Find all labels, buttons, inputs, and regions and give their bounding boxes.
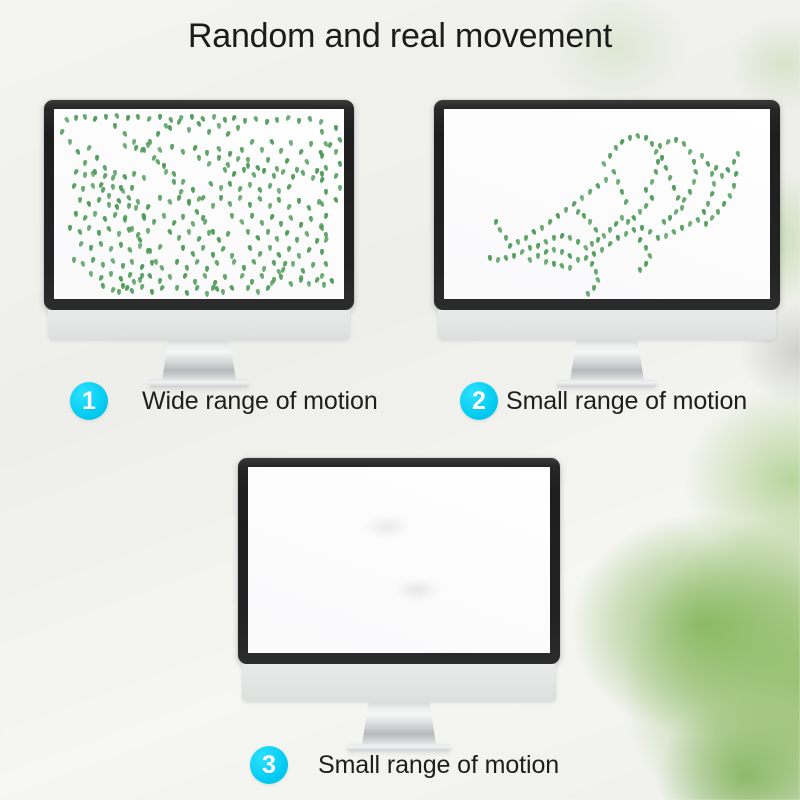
cursor-trail-dot: [151, 219, 156, 226]
cursor-trail-dot: [196, 120, 202, 127]
cursor-trail-dot: [98, 241, 104, 248]
cursor-trail-dot: [692, 179, 697, 186]
cursor-trail-dot: [564, 207, 568, 213]
cursor-trail-dot: [205, 291, 209, 297]
cursor-trail-dot: [248, 182, 252, 188]
cursor-trail-dot: [687, 189, 692, 196]
cursor-trail-dot: [590, 241, 595, 247]
cursor-trail-dot: [159, 284, 165, 291]
cursor-trail-dot: [324, 165, 329, 172]
cursor-trail-dot: [113, 123, 117, 129]
cursor-trail-dot: [309, 141, 313, 147]
cursor-trail-dot: [93, 211, 98, 217]
monitor-1-chin: [48, 310, 350, 340]
monitor-1: [44, 100, 354, 387]
cursor-trail-dot: [284, 157, 290, 164]
cursor-trail-dot: [122, 217, 126, 223]
cursor-trail-dot: [163, 169, 168, 176]
cursor-trail-dot: [126, 227, 131, 234]
cursor-trail-dot: [288, 214, 294, 221]
cursor-trail-dot: [681, 141, 687, 148]
cursor-trail-dot: [631, 226, 637, 233]
cursor-trail-dot: [589, 261, 594, 268]
cursor-trail-dot: [230, 213, 235, 219]
cursor-trail-dot: [594, 269, 599, 275]
cursor-trail-dot: [575, 208, 581, 215]
cursor-trail-dot: [90, 182, 96, 189]
cursor-trail-dot: [157, 243, 163, 250]
cursor-trail-dot: [295, 167, 299, 173]
cursor-trail-dot: [512, 253, 516, 259]
cursor-trail-dot: [89, 245, 94, 251]
cursor-trail-dot: [275, 166, 280, 173]
cursor-trail-dot: [732, 183, 736, 189]
cursor-trail-dot: [74, 148, 80, 155]
cursor-trail-dot: [279, 148, 284, 155]
cursor-trail-dot: [107, 193, 111, 199]
monitor-3-bezel: [238, 458, 560, 664]
cursor-trail-dot: [181, 179, 186, 186]
cursor-trail-dot: [567, 235, 572, 242]
cursor-trail-dot: [83, 172, 88, 178]
cursor-trail-dot: [527, 256, 533, 263]
caption-label-1: Wide range of motion: [142, 387, 378, 416]
cursor-trail-dot: [320, 153, 325, 159]
cursor-trail-dot: [643, 135, 648, 142]
cursor-trail-dot: [320, 249, 324, 255]
cursor-trail-dot: [68, 225, 72, 231]
cursor-trail-dot: [638, 209, 642, 215]
cursor-trail-dot: [592, 285, 597, 291]
cursor-trail-dot: [190, 114, 195, 120]
cursor-trail-dot: [86, 144, 92, 151]
cursor-trail-dot: [519, 248, 525, 255]
cursor-trail-dot: [71, 182, 77, 189]
cursor-trail-dot: [286, 183, 292, 190]
cursor-trail-dot: [307, 116, 313, 123]
cursor-trail-dot: [150, 260, 154, 266]
cursor-trail-dot: [78, 240, 84, 247]
cursor-trail-dot: [493, 219, 498, 226]
cursor-trail-dot: [275, 236, 280, 243]
monitor-1-bezel: [44, 100, 354, 310]
cursor-trail-dot: [334, 149, 339, 155]
cursor-trail-dot: [216, 155, 221, 161]
cursor-trail-dot: [593, 226, 599, 233]
cursor-trail-dot: [190, 220, 196, 227]
cursor-trail-dot: [308, 216, 313, 223]
cursor-trail-dot: [216, 237, 222, 244]
cursor-trail-dot: [136, 114, 141, 121]
cursor-trail-dot: [613, 220, 619, 227]
cursor-trail-dot: [87, 225, 93, 232]
cursor-trail-dot: [171, 170, 177, 177]
screen-glare: [248, 467, 550, 653]
cursor-trail-dot: [277, 188, 282, 195]
cursor-trail-dot: [259, 273, 265, 280]
cursor-trail-dot: [167, 198, 173, 205]
cursor-trail-dot: [497, 226, 503, 233]
cursor-trail-dot: [616, 235, 621, 241]
cursor-trail-dot: [260, 147, 264, 153]
cursor-trail-dot: [104, 114, 108, 120]
cursor-trail-dot: [601, 232, 607, 239]
cursor-trail-dot: [257, 186, 263, 193]
cursor-trail-dot: [206, 129, 211, 136]
cursor-trail-dot: [251, 171, 257, 178]
cursor-trail-dot: [619, 189, 624, 196]
cursor-trail-dot: [205, 150, 209, 156]
cursor-trail-dot: [159, 264, 165, 271]
cursor-trail-dot: [608, 227, 612, 233]
cursor-trail-dot: [242, 265, 247, 271]
cursor-trail-dot: [608, 153, 613, 159]
caption-row-2: 2 Small range of motion: [460, 382, 747, 420]
cursor-trail-dot: [576, 239, 581, 245]
cursor-trail-dot: [704, 221, 709, 227]
monitor-1-screen: [54, 109, 344, 299]
cursor-trail-dot: [692, 159, 696, 165]
cursor-trail-dot: [285, 114, 291, 121]
cursor-trail-dot: [129, 287, 135, 294]
cursor-trail-dot: [706, 201, 710, 207]
cursor-trail-dot: [536, 253, 540, 259]
monitor-3-screen: [248, 467, 550, 653]
cursor-trail-dot: [222, 117, 227, 124]
cursor-trail-dot: [242, 167, 246, 173]
cursor-trail-dot: [628, 135, 632, 141]
cursor-trail-dot: [653, 148, 659, 155]
caption-row-3: 3 Small range of motion: [250, 746, 559, 784]
cursor-trail-dot: [323, 260, 329, 267]
cursor-trail-dot: [247, 245, 253, 252]
cursor-trail-dot: [130, 259, 135, 266]
monitor-2-chin: [438, 310, 776, 340]
cursor-trail-dot: [171, 179, 176, 186]
cursor-trail-dot: [187, 229, 192, 236]
cursor-trail-dot: [231, 170, 237, 177]
cursor-trail-dot: [320, 176, 326, 183]
monitor-2-screen: [444, 109, 770, 299]
cursor-trail-dot: [681, 196, 687, 203]
cursor-trail-dot: [713, 165, 719, 172]
cursor-trail-dot: [236, 125, 240, 131]
cursor-trail-dot: [265, 157, 270, 164]
cursor-trail-dot: [190, 250, 196, 257]
cursor-trail-dot: [314, 168, 319, 175]
cursor-trail-dot: [125, 115, 130, 122]
cursor-trail-dot: [202, 272, 208, 279]
cursor-trail-dot: [735, 151, 740, 158]
cursor-trail-dot: [304, 230, 310, 237]
cursor-trail-dot: [637, 267, 642, 274]
cursor-trail-dot: [240, 147, 245, 154]
cursor-trail-dot: [102, 164, 108, 171]
cursor-trail-dot: [300, 169, 306, 176]
cursor-trail-dot: [329, 278, 335, 285]
cursor-trail-dot: [219, 245, 225, 252]
cursor-trail-dot: [559, 249, 564, 256]
cursor-trail-dot: [68, 139, 72, 145]
cursor-trail-dot: [527, 245, 532, 252]
cursor-trail-dot: [580, 195, 585, 202]
cursor-trail-dot: [102, 172, 108, 179]
cursor-trail-dot: [524, 235, 529, 242]
cursor-trail-dot: [631, 214, 637, 221]
cursor-trail-dot: [709, 190, 715, 197]
cursor-trail-dot: [261, 266, 266, 272]
cursor-trail-dot: [306, 281, 311, 288]
cursor-trail-dot: [110, 184, 115, 190]
cursor-trail-dot: [314, 238, 319, 245]
cursor-trail-dot: [280, 168, 286, 175]
cursor-trail-dot: [237, 185, 243, 192]
caption-row-1: 1 Wide range of motion: [70, 382, 378, 420]
cursor-trail-dot: [298, 148, 304, 155]
cursor-trail-dot: [145, 203, 151, 210]
cursor-trail-dot: [110, 257, 116, 264]
cursor-trail-dot: [291, 261, 295, 267]
cursor-trail-dot: [289, 140, 294, 147]
cursor-trail-dot: [208, 180, 214, 187]
step-badge-2: 2: [460, 382, 498, 420]
cursor-trail-dot: [118, 276, 124, 283]
monitor-2: [434, 100, 780, 387]
monitor-2-neck: [570, 340, 644, 380]
cursor-trail-dot: [668, 215, 672, 221]
cursor-trail-dot: [161, 213, 166, 220]
cursor-trail-dot: [286, 203, 292, 210]
page-title: Random and real movement: [0, 17, 800, 56]
cursor-trail-dot: [246, 229, 251, 235]
cursor-trail-dot: [304, 158, 310, 165]
cursor-trail-dot: [583, 244, 589, 251]
cursor-trail-dot: [267, 183, 272, 190]
cursor-trail-dot: [611, 168, 617, 175]
cursor-trail-dot: [663, 164, 669, 171]
cursor-trail-dot: [122, 142, 128, 149]
cursor-trail-dot: [284, 229, 290, 236]
cursor-trail-dot: [637, 236, 643, 243]
cursor-trail-dot: [601, 160, 607, 167]
cursor-trail-dot: [132, 279, 137, 286]
cursor-trail-dot: [296, 253, 301, 260]
cursor-trail-dot: [503, 254, 509, 261]
cursor-trail-dot: [83, 160, 88, 167]
cursor-trail-dot: [595, 182, 601, 189]
cursor-trail-dot: [675, 194, 681, 201]
cursor-trail-dot: [647, 252, 653, 259]
cursor-trail-dot: [112, 211, 118, 218]
cursor-trail-dot: [175, 285, 180, 291]
cursor-trail-dot: [246, 163, 250, 169]
cursor-trail-dot: [320, 129, 325, 135]
cursor-trail-dot: [623, 231, 628, 238]
cursor-trail-dot: [225, 130, 231, 137]
cursor-trail-dot: [655, 235, 660, 242]
cursor-trail-dot: [255, 289, 260, 296]
cursor-trail-dot: [181, 245, 185, 251]
cursor-trail-dot: [192, 144, 198, 151]
cursor-trail-dot: [139, 263, 145, 270]
cursor-trail-dot: [210, 252, 215, 258]
cursor-trail-dot: [64, 116, 70, 123]
cursor-trail-dot: [107, 202, 112, 208]
cursor-trail-dot: [232, 259, 238, 266]
cursor-trail-dot: [200, 115, 206, 122]
cursor-trail-dot: [197, 155, 202, 162]
cursor-trail-dot: [167, 274, 172, 281]
cursor-trail-dot: [121, 130, 127, 137]
cursor-trail-dot: [298, 277, 303, 284]
cursor-trail-dot: [333, 196, 339, 203]
cursor-trail-dot: [665, 138, 671, 145]
cursor-trail-dot: [310, 175, 316, 182]
cursor-trail-dot: [250, 213, 255, 219]
cursor-trail-dot: [559, 232, 565, 239]
cursor-trail-dot: [206, 160, 212, 167]
cursor-trail-dot: [210, 229, 215, 235]
cursor-trail-dot: [271, 260, 276, 267]
cursor-trail-dot: [142, 175, 147, 182]
cursor-trail-dot: [184, 290, 190, 297]
cursor-trail-dot: [257, 250, 263, 257]
cursor-trail-dot: [90, 257, 95, 264]
cursor-trail-dot: [177, 118, 183, 125]
cursor-trail-dot: [595, 237, 600, 244]
cursor-trail-dot: [214, 259, 220, 266]
cursor-trail-dot: [727, 192, 733, 199]
cursor-trail-dot: [140, 273, 145, 280]
cursor-trail-dot: [136, 199, 141, 206]
cursor-trail-dot: [695, 217, 701, 224]
cursor-trail-dot: [277, 197, 282, 204]
cursor-trail-dot: [298, 222, 303, 229]
cursor-trail-dot: [155, 158, 161, 165]
cursor-trail-dot: [97, 230, 102, 236]
cursor-trail-dot: [555, 213, 561, 220]
monitor-2-bezel: [434, 100, 780, 310]
cursor-trail-dot: [117, 289, 121, 295]
cursor-trail-dot: [712, 181, 717, 188]
cursor-trail-dot: [119, 187, 125, 194]
cursor-trail-dot: [191, 187, 196, 193]
cursor-trail-dot: [95, 155, 99, 161]
cursor-trail-dot: [155, 131, 160, 138]
cursor-trail-dot: [110, 286, 116, 293]
cursor-trail-dot: [643, 261, 648, 268]
cursor-trail-dot: [337, 136, 343, 143]
cursor-trail-dot: [649, 195, 655, 202]
cursor-trail-dot: [167, 228, 173, 235]
cursor-trail-dot: [237, 195, 243, 202]
monitor-3-neck: [362, 702, 436, 744]
cursor-trail-dot: [148, 139, 153, 146]
cursor-trail-dot: [257, 195, 263, 202]
cursor-trail-dot: [649, 179, 655, 186]
cursor-trail-dot: [543, 259, 549, 266]
cursor-trail-dot: [106, 225, 112, 232]
cursor-trail-dot: [649, 141, 654, 148]
cursor-trail-dot: [147, 272, 153, 279]
cursor-trail-dot: [86, 201, 92, 208]
cursor-trail-dot: [222, 167, 227, 174]
cursor-trail-dot: [551, 247, 556, 254]
cursor-trail-dot: [673, 208, 679, 215]
cursor-trail-dot: [488, 255, 493, 261]
cursor-trail-dot: [132, 171, 137, 178]
cursor-trail-dot: [114, 112, 120, 119]
cursor-trail-dot: [568, 265, 573, 271]
cursor-trail-dot: [187, 127, 191, 133]
cursor-trail-dot: [100, 187, 105, 194]
caption-label-2: Small range of motion: [506, 387, 747, 416]
cursor-trail-dot: [228, 201, 234, 208]
cursor-trail-dot: [147, 248, 152, 255]
cursor-trail-dot: [72, 168, 78, 175]
cursor-trail-dot: [531, 228, 537, 235]
cursor-trail-dot: [73, 115, 78, 121]
cursor-trail-dot: [543, 238, 549, 245]
cursor-trail-dot: [177, 195, 182, 202]
cursor-trail-dot: [547, 219, 553, 226]
cursor-trail-dot: [181, 149, 186, 156]
cursor-trail-dot: [716, 209, 721, 216]
cursor-trail-dot: [72, 257, 76, 263]
cursor-trail-dot: [300, 267, 306, 274]
cursor-trail-dot: [92, 169, 98, 176]
cursor-trail-dot: [113, 170, 117, 176]
cursor-trail-dot: [267, 245, 271, 251]
cursor-trail-dot: [504, 235, 508, 241]
cursor-trail-dot: [259, 220, 264, 227]
cursor-trail-dot: [619, 215, 624, 222]
cursor-trail-dot: [121, 173, 127, 180]
cursor-trail-dot: [338, 185, 342, 191]
cursor-trail-dot: [644, 187, 649, 193]
cursor-trail-dot: [680, 225, 684, 231]
cursor-trail-dot: [83, 114, 88, 121]
cursor-trail-dot: [507, 242, 513, 249]
cursor-trail-dot: [185, 265, 190, 272]
cursor-trail-dot: [319, 200, 325, 207]
cursor-trail-dot: [643, 202, 649, 209]
cursor-trail-dot: [653, 168, 659, 175]
cursor-trail-dot: [671, 228, 677, 235]
cursor-trail-dot: [595, 276, 601, 283]
cursor-trail-dot: [604, 177, 608, 183]
cursor-trail-dot: [291, 174, 295, 180]
cursor-trail-dot: [587, 189, 592, 196]
monitor-3-chin: [242, 664, 556, 702]
cursor-trail-dot: [693, 168, 699, 175]
cursor-trail-dot: [253, 115, 259, 122]
cursor-trail-dot: [264, 119, 269, 126]
cursor-trail-dot: [146, 228, 150, 234]
cursor-trail-dot: [228, 151, 233, 158]
cursor-trail-dot: [283, 261, 288, 268]
cursor-trail-dot: [720, 173, 725, 179]
cursor-trail-dot: [157, 278, 162, 285]
cursor-trail-dot: [77, 197, 81, 203]
cursor-trail-dot: [535, 243, 540, 250]
cursor-trail-dot: [581, 213, 586, 220]
cursor-trail-dot: [591, 251, 597, 258]
cursor-trail-dot: [635, 132, 641, 139]
cursor-trail-dot: [158, 195, 162, 201]
cursor-trail-dot: [126, 203, 131, 210]
cursor-trail-dot: [644, 245, 648, 251]
